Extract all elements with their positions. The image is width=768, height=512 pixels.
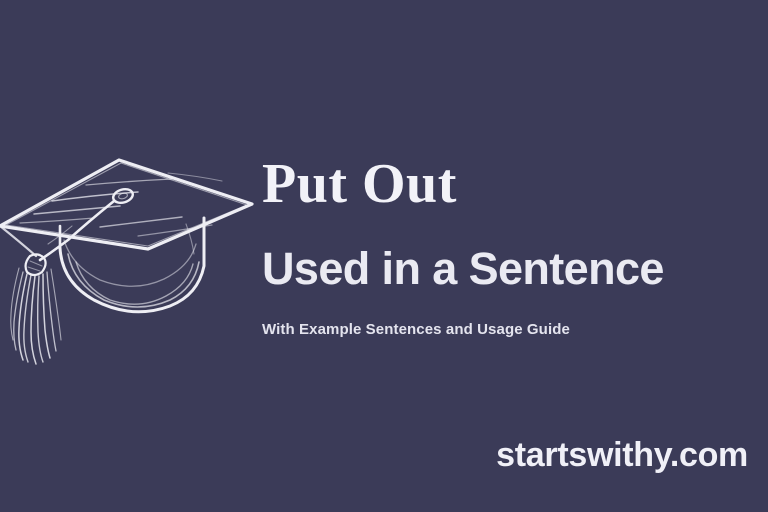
headline-block: Put Out Used in a Sentence With Example … [262,156,762,337]
page-title: Put Out [262,156,762,212]
page-subtitle: Used in a Sentence [262,212,762,291]
page-tagline: With Example Sentences and Usage Guide [262,291,762,337]
banner: Put Out Used in a Sentence With Example … [0,0,768,512]
graduation-cap-icon [0,148,260,373]
site-brand: startswithy.com [496,436,748,475]
